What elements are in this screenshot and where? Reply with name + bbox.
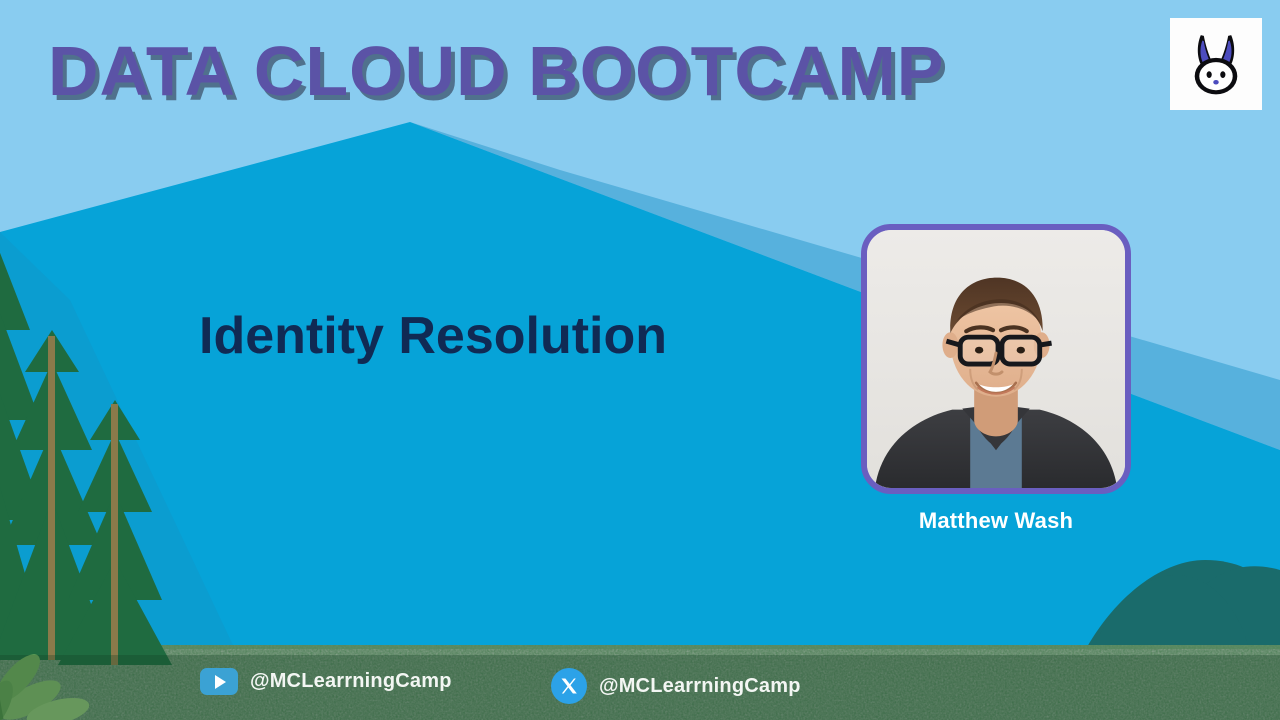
- x-handle: @MCLearrningCamp: [599, 675, 801, 698]
- speaker-photo: [861, 224, 1131, 494]
- slide: DATA CLOUD BOOTCAMP Identity Resolution: [0, 0, 1280, 720]
- youtube-handle: @MCLearrningCamp: [250, 670, 452, 693]
- bunny-logo-icon: [1178, 26, 1254, 102]
- social-link-x[interactable]: @MCLearrningCamp: [551, 668, 801, 704]
- social-link-youtube[interactable]: @MCLearrningCamp: [200, 668, 452, 695]
- session-title: Identity Resolution: [199, 310, 667, 362]
- x-twitter-icon: [551, 668, 587, 704]
- tree-b-trunk: [111, 404, 118, 665]
- speaker-portrait-image: [867, 230, 1125, 488]
- speaker-name: Matthew Wash: [861, 508, 1131, 534]
- page-title: DATA CLOUD BOOTCAMP: [48, 36, 945, 106]
- youtube-play-icon: [200, 668, 238, 695]
- brand-logo: [1170, 18, 1262, 110]
- tree-a-trunk: [48, 336, 55, 660]
